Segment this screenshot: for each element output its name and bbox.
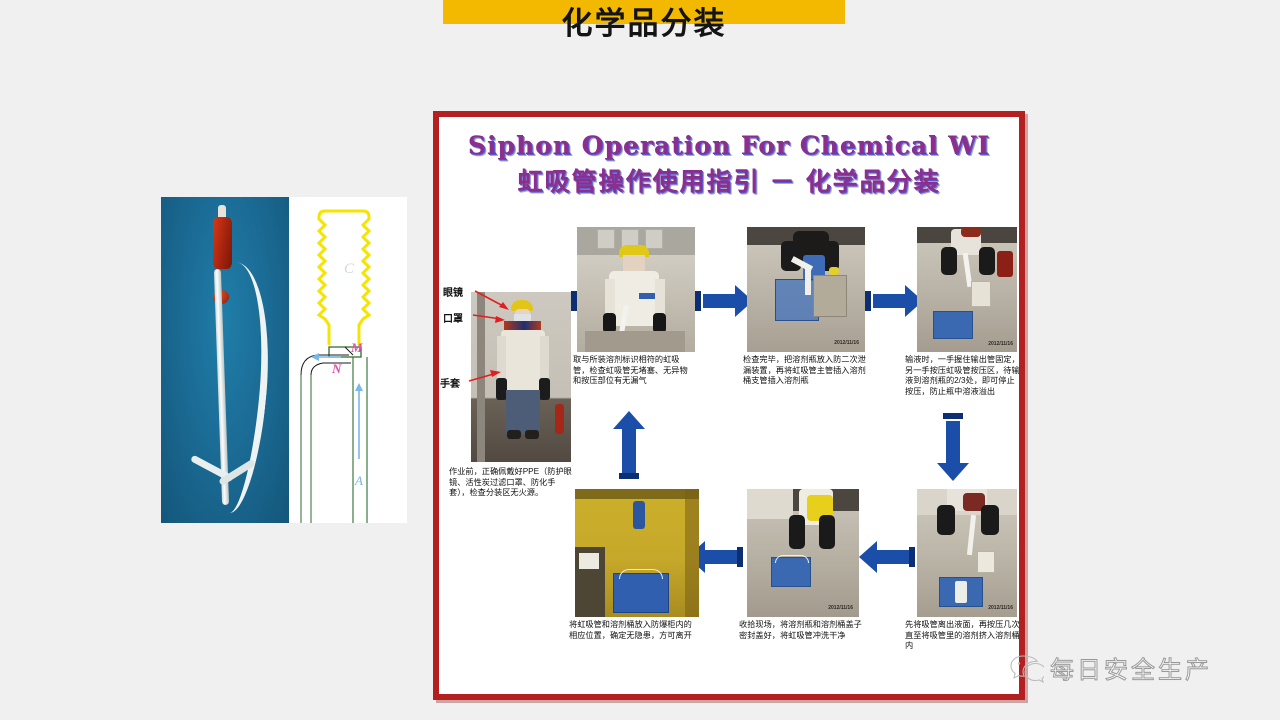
step-1-caption: 作业前，正确佩戴好PPE（防护眼镜、活性炭过滤口罩、防化手套），检查分装区无火源… [449, 467, 573, 499]
wi-heading: Siphon Operation For Chemical WI 虹吸管操作使用… [439, 117, 1019, 198]
diagram-label-A: A [354, 473, 363, 488]
step-6-caption: 收拾现场，将溶剂瓶和溶剂桶盖子密封盖好，将虹吸管冲洗干净 [739, 620, 863, 641]
wi-heading-cn: 虹吸管操作使用指引 － 化学品分装 [439, 162, 1019, 198]
wi-heading-en: Siphon Operation For Chemical WI [439, 131, 1019, 160]
diagram-label-C: C [344, 261, 355, 277]
siphon-schematic-diagram: C M N A [289, 197, 407, 523]
page-title: 化学品分装 [443, 0, 845, 44]
arrow-step7-to-step1 [613, 411, 645, 491]
step-2-caption: 取与所装溶剂标识相符的虹吸管，检查虹吸管无堵塞、无异物和按压部位有无漏气 [573, 355, 695, 387]
diagram-label-M: M [350, 340, 363, 355]
wi-sheet-frame: Siphon Operation For Chemical WI 虹吸管操作使用… [433, 111, 1025, 700]
step-3-caption: 检查完毕，把溶剂瓶放入防二次泄漏装置，再将虹吸管主管插入溶剂桶支管插入溶剂瓶 [743, 355, 867, 387]
arrow-step5-to-step6 [859, 541, 917, 573]
step-7-photo [575, 489, 699, 617]
arrow-step2-to-step3 [695, 285, 753, 317]
watermark: 每日安全生产 [1010, 650, 1212, 685]
step-3-photo-timestamp: 2012/11/16 [834, 340, 859, 346]
arrow-step3-to-step4 [865, 285, 923, 317]
step-7-caption: 将虹吸管和溶剂桶放入防爆柜内的相应位置，确定无隐患，方可离开 [569, 620, 699, 641]
step-5-photo-timestamp: 2012/11/16 [988, 605, 1013, 611]
step-4-caption: 输液时，一手握住输出管固定，另一手按压虹吸管按压区，待输液到溶剂瓶的2/3处，即… [905, 355, 1021, 397]
watermark-text: 每日安全生产 [1050, 650, 1212, 685]
step-5-caption: 先将吸管离出液面，再按压几次直至将吸管里的溶剂挤入溶剂桶内 [905, 620, 1023, 652]
ppe-callout-arrows [439, 277, 579, 397]
step-6-photo: 2012/11/16 [747, 489, 859, 617]
siphon-tube-curve [192, 260, 280, 515]
wechat-icon [1010, 653, 1044, 683]
siphon-pump-photo [161, 197, 289, 523]
arrow-step4-to-step5 [937, 413, 969, 489]
step-5-photo: 2012/11/16 [917, 489, 1017, 617]
schematic-svg: C M N A [289, 197, 407, 523]
diagram-label-N: N [331, 361, 342, 376]
step-4-photo: 2012/11/16 [917, 227, 1017, 352]
step-3-photo: 2012/11/16 [747, 227, 865, 352]
step-6-photo-timestamp: 2012/11/16 [828, 605, 853, 611]
step-4-photo-timestamp: 2012/11/16 [988, 341, 1013, 347]
left-figure: C M N A [161, 197, 407, 523]
step-2-photo [577, 227, 695, 352]
